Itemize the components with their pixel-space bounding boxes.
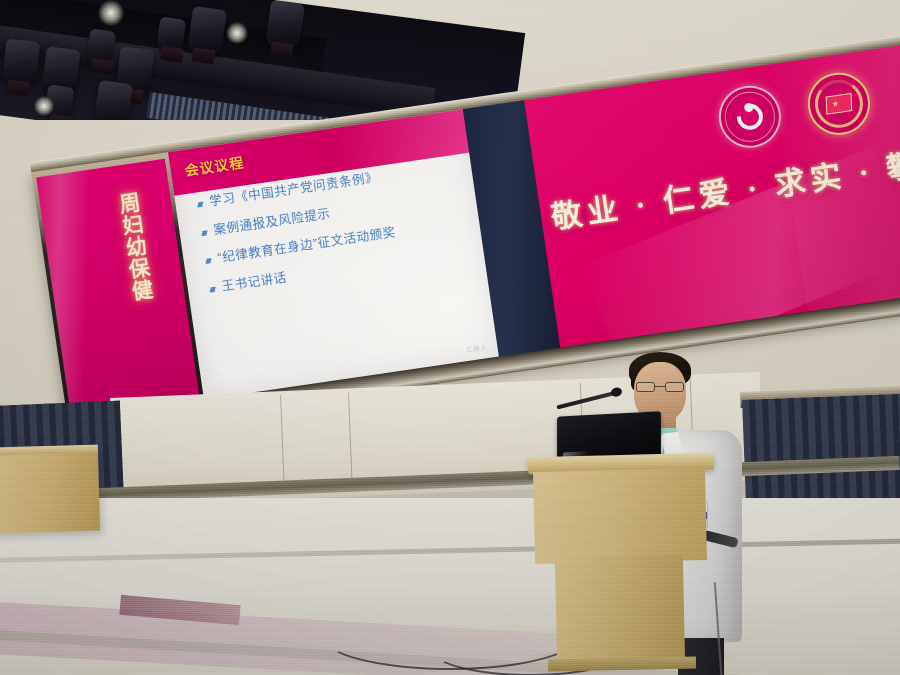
podium-body bbox=[533, 468, 707, 564]
list-item-label: 王书记讲话 bbox=[221, 270, 288, 295]
glasses-icon bbox=[636, 382, 684, 392]
bullet-marker-icon bbox=[201, 230, 207, 236]
bullet-marker-icon bbox=[197, 202, 203, 208]
hospital-emblem-icon bbox=[715, 82, 785, 152]
bullet-marker-icon bbox=[206, 258, 212, 264]
left-banner-text: 周妇幼保健 bbox=[80, 191, 155, 309]
conference-hall-photo: 周妇幼保健 会议议程 学习《中国共产党问责条例》 案例通报及风险提示 “纪律教育… bbox=[0, 0, 900, 675]
projected-slide: 会议议程 学习《中国共产党问责条例》 案例通报及风险提示 “纪律教育在身边”征文… bbox=[168, 109, 501, 402]
side-lectern bbox=[0, 451, 100, 534]
podium-base bbox=[555, 555, 685, 668]
wall-seam bbox=[280, 395, 285, 491]
wall-seam bbox=[348, 392, 353, 488]
party-emblem-icon bbox=[804, 69, 874, 139]
slide-footer-note: 汇报人 bbox=[466, 342, 488, 354]
emblem-flag bbox=[826, 93, 852, 115]
bullet-marker-icon bbox=[210, 287, 216, 293]
list-item-label: 案例通报及风险提示 bbox=[213, 206, 332, 238]
